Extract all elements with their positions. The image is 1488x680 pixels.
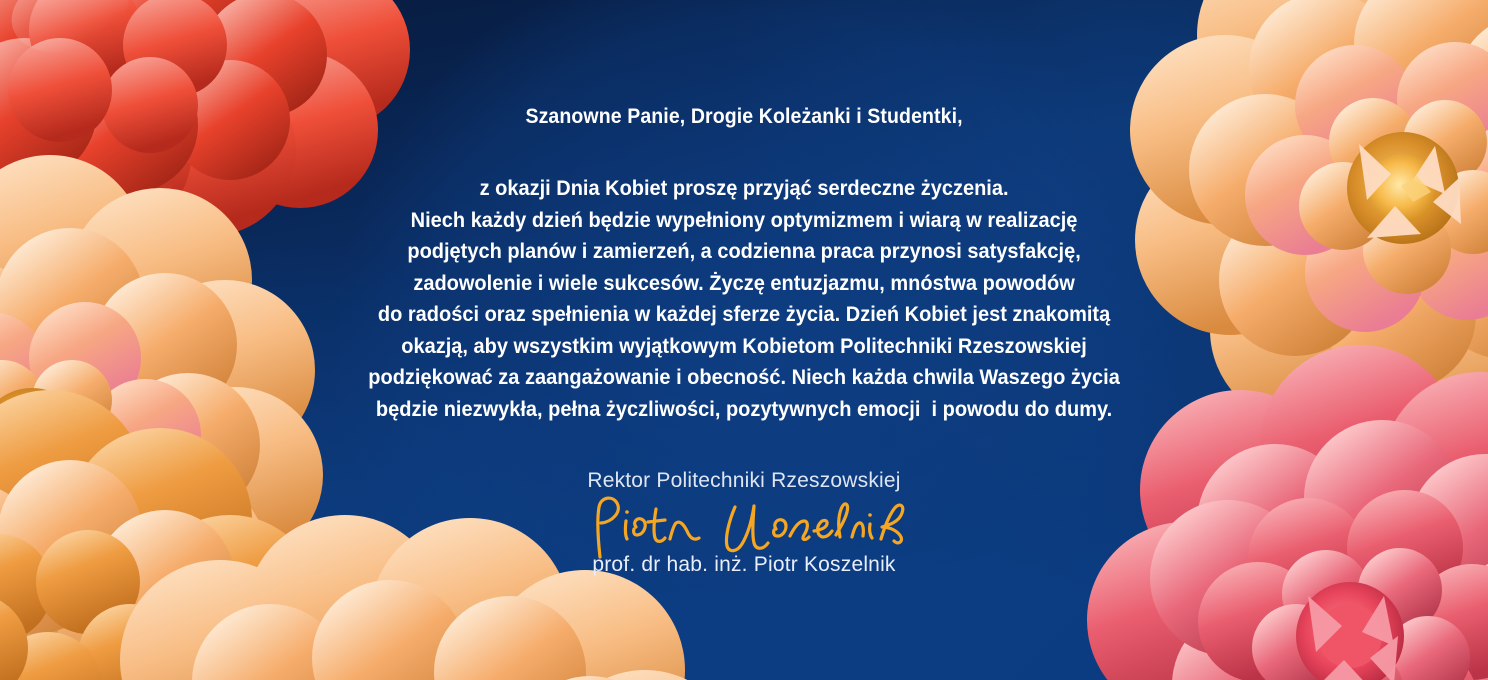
signature-name: prof. dr hab. inż. Piotr Koszelnik (484, 553, 1004, 577)
greeting-heading: Szanowne Panie, Drogie Koleżanki i Stude… (525, 105, 962, 129)
message-line: okazją, aby wszystkim wyjątkowym Kobieto… (368, 331, 1120, 363)
message-body: z okazji Dnia Kobiet proszę przyjąć serd… (368, 173, 1120, 425)
message-line: będzie niezwykła, pełna życzliwości, poz… (368, 394, 1120, 426)
card-content: Szanowne Panie, Drogie Koleżanki i Stude… (0, 0, 1488, 680)
message-line: podjętych planów i zamierzeń, a codzienn… (368, 236, 1120, 268)
message-line: do radości oraz spełnienia w każdej sfer… (368, 299, 1120, 331)
message-line: podziękować za zaangażowanie i obecność.… (368, 362, 1120, 394)
message-line: z okazji Dnia Kobiet proszę przyjąć serd… (368, 173, 1120, 205)
womens-day-greeting-card: Szanowne Panie, Drogie Koleżanki i Stude… (0, 0, 1488, 680)
message-line: zadowolenie i wiele sukcesów. Życzę entu… (368, 268, 1120, 300)
signature-block: Rektor Politechniki Rzeszowskiej (484, 469, 1004, 577)
signature-role: Rektor Politechniki Rzeszowskiej (484, 469, 1004, 493)
message-line: Niech każdy dzień będzie wypełniony opty… (368, 205, 1120, 237)
